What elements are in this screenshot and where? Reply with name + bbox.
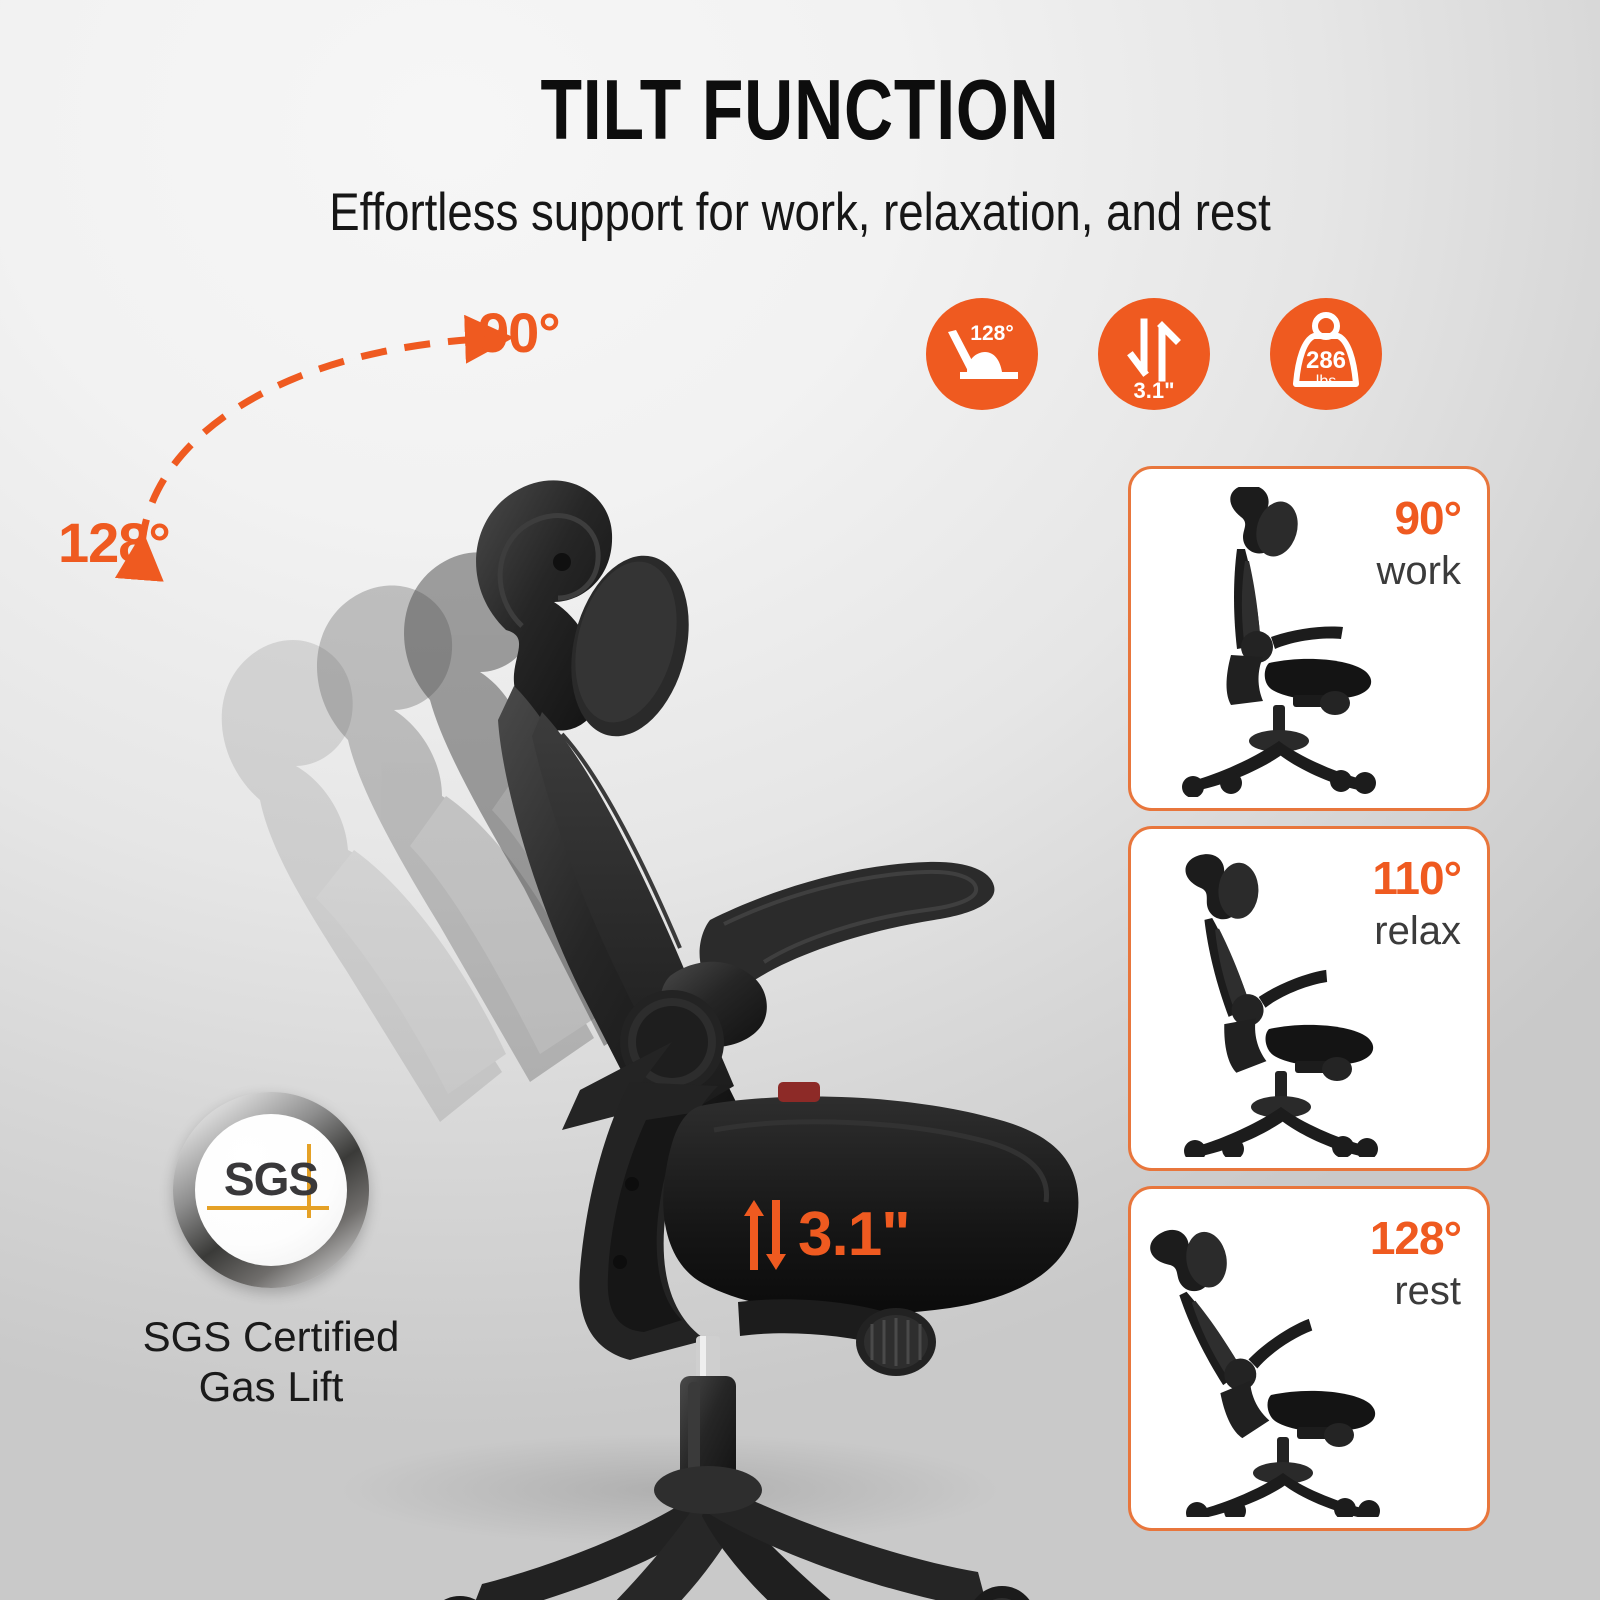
height-adjustment-callout: 3.1" <box>742 1196 910 1274</box>
feature-badge-weight: 286 lbs <box>1270 298 1382 410</box>
position-card-relax[interactable]: 110° relax <box>1128 826 1490 1171</box>
tilt-mechanism <box>738 1299 936 1376</box>
card-angle-work: 90° <box>1394 495 1461 541</box>
height-adjustment-label: 3.1" <box>798 1204 910 1266</box>
sgs-caption-line2: Gas Lift <box>116 1362 426 1412</box>
position-card-work[interactable]: 90° work <box>1128 466 1490 811</box>
up-down-arrow-icon <box>742 1196 788 1274</box>
sgs-seal-inner: SGS <box>195 1114 347 1266</box>
card-angle-relax: 110° <box>1372 855 1461 901</box>
page-subtitle: Effortless support for work, relaxation,… <box>112 182 1488 243</box>
feature-badge-height: 3.1" <box>1098 298 1210 410</box>
chair-thumbnail-work <box>1145 487 1395 797</box>
svg-text:3.1": 3.1" <box>1133 378 1174 403</box>
card-mode-work: work <box>1377 551 1461 591</box>
sgs-caption: SGS Certified Gas Lift <box>116 1312 426 1411</box>
sgs-caption-line1: SGS Certified <box>116 1312 426 1362</box>
page-title: TILT FUNCTION <box>160 62 1440 160</box>
sgs-certification: SGS SGS Certified Gas Lift <box>116 1092 426 1411</box>
chair-thumbnail-rest <box>1145 1207 1395 1517</box>
svg-text:286: 286 <box>1306 347 1346 374</box>
height-adjust-icon: 3.1" <box>1098 298 1210 410</box>
sgs-seal-text: SGS <box>195 1152 347 1206</box>
svg-text:lbs: lbs <box>1316 373 1336 390</box>
infographic-canvas: TILT FUNCTION Effortless support for wor… <box>0 0 1600 1600</box>
position-card-rest[interactable]: 128° rest <box>1128 1186 1490 1531</box>
card-mode-relax: relax <box>1374 911 1461 951</box>
chair-thumbnail-relax <box>1145 847 1395 1157</box>
card-angle-rest: 128° <box>1370 1215 1461 1261</box>
weight-capacity-icon: 286 lbs <box>1270 298 1382 410</box>
sgs-seal-icon: SGS <box>173 1092 369 1288</box>
card-mode-rest: rest <box>1394 1271 1461 1311</box>
tension-knob <box>856 1308 936 1376</box>
